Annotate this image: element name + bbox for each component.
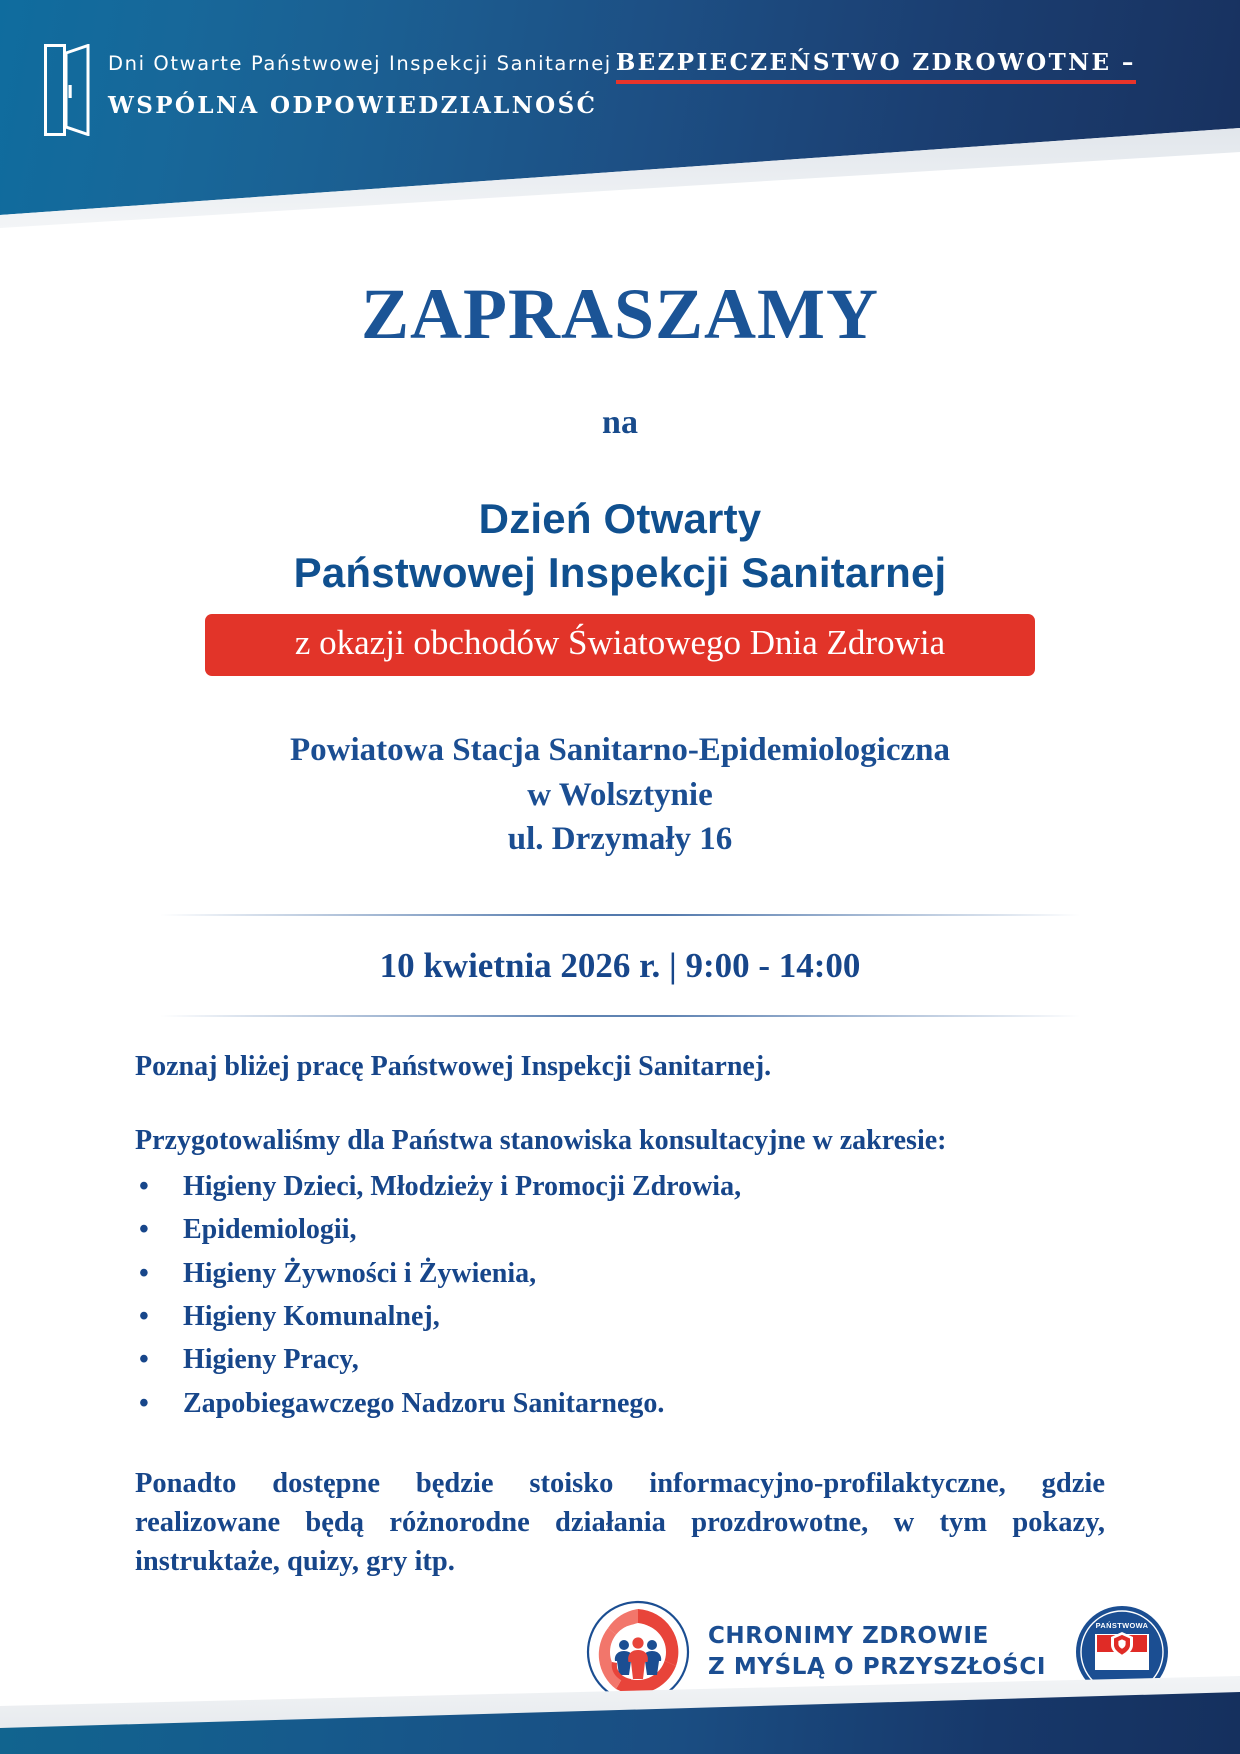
invite-heading: ZAPRASZAMY	[0, 278, 1240, 350]
list-item-label: Higieny Żywności i Żywienia,	[183, 1258, 536, 1289]
bullet-icon: •	[139, 1208, 149, 1251]
divider-above-date	[160, 914, 1080, 916]
poster-body: ZAPRASZAMY na Dzień Otwarty Państwowej I…	[0, 240, 1240, 1581]
bullet-icon: •	[139, 1252, 149, 1295]
event-datetime: 10 kwietnia 2026 r. | 9:00 - 14:00	[0, 948, 1240, 983]
list-item: •Higieny Pracy,	[135, 1338, 1115, 1381]
list-item: •Higieny Komunalnej,	[135, 1295, 1115, 1338]
occasion-banner: z okazji obchodów Światowego Dnia Zdrowi…	[205, 614, 1035, 677]
campaign-title-line2: WSPÓLNA ODPOWIEDZIALNOŚĆ	[108, 90, 1136, 121]
list-item: •Zapobiegawczego Nadzoru Sanitarnego.	[135, 1382, 1115, 1425]
venue-line3: ul. Drzymały 16	[0, 817, 1240, 862]
venue-line2: w Wolsztynie	[0, 773, 1240, 818]
seal-top-text: PAŃSTWOWA	[1096, 1621, 1149, 1630]
list-item-label: Higieny Komunalnej,	[183, 1301, 440, 1332]
departments-list: •Higieny Dzieci, Młodzieży i Promocji Zd…	[135, 1165, 1115, 1425]
chronimy-zdrowie-logo-icon	[586, 1600, 690, 1704]
event-name-line1: Dzień Otwarty	[0, 492, 1240, 546]
list-heading: Przygotowaliśmy dla Państwa stanowiska k…	[135, 1127, 1115, 1155]
venue-block: Powiatowa Stacja Sanitarno-Epidemiologic…	[0, 728, 1240, 862]
intro-text: Poznaj bliżej pracę Państwowej Inspekcji…	[135, 1053, 1115, 1081]
outro-paragraph: Ponadto dostępne będzie stoisko informac…	[135, 1465, 1105, 1581]
list-item: •Higieny Dzieci, Młodzieży i Promocji Zd…	[135, 1165, 1115, 1208]
list-item-label: Epidemiologii,	[183, 1214, 356, 1245]
venue-line1: Powiatowa Stacja Sanitarno-Epidemiologic…	[0, 728, 1240, 773]
list-item: •Higieny Żywności i Żywienia,	[135, 1252, 1115, 1295]
list-item-label: Higieny Pracy,	[183, 1344, 359, 1375]
list-item-label: Zapobiegawczego Nadzoru Sanitarnego.	[183, 1388, 664, 1419]
divider-below-date	[160, 1015, 1080, 1017]
invite-connector: na	[0, 406, 1240, 440]
bullet-icon: •	[139, 1165, 149, 1208]
list-item: •Epidemiologii,	[135, 1208, 1115, 1251]
campaign-subtitle: Dni Otwarte Państwowej Inspekcji Sanitar…	[108, 52, 612, 75]
campaign-logo-block: Dni Otwarte Państwowej Inspekcji Sanitar…	[44, 40, 1136, 136]
bullet-icon: •	[139, 1338, 149, 1381]
chronimy-slogan-line1: CHRONIMY ZDROWIE	[708, 1621, 1046, 1652]
bullet-icon: •	[139, 1382, 149, 1425]
campaign-title-line1: BEZPIECZEŃSTWO ZDROWOTNE –	[616, 47, 1136, 84]
details-section: Poznaj bliżej pracę Państwowej Inspekcji…	[125, 1053, 1115, 1582]
chronimy-slogan-line2: Z MYŚLĄ O PRZYSZŁOŚCI	[708, 1652, 1046, 1683]
event-name-line2: Państwowej Inspekcji Sanitarnej	[0, 546, 1240, 600]
bullet-icon: •	[139, 1295, 149, 1338]
event-name: Dzień Otwarty Państwowej Inspekcji Sanit…	[0, 492, 1240, 600]
chronimy-zdrowie-slogan: CHRONIMY ZDROWIE Z MYŚLĄ O PRZYSZŁOŚCI	[708, 1621, 1046, 1683]
list-item-label: Higieny Dzieci, Młodzieży i Promocji Zdr…	[183, 1171, 741, 1202]
open-door-icon	[44, 44, 90, 136]
